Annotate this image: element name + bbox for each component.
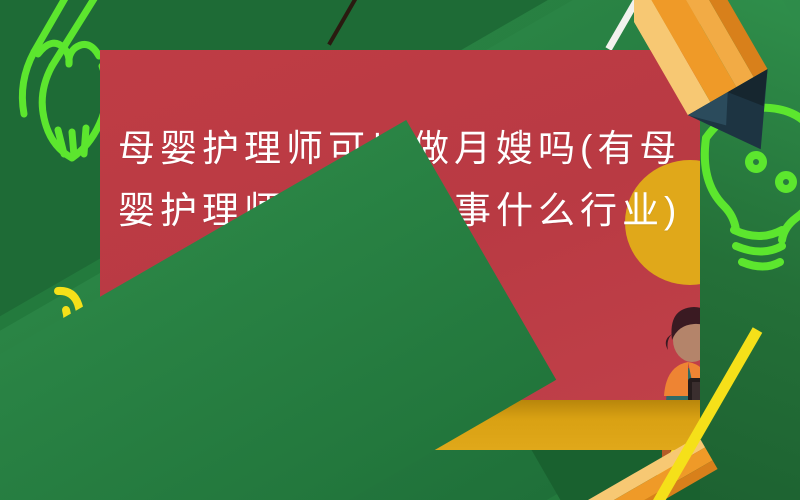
orange-pencil-bottom-icon — [490, 440, 750, 500]
poster-canvas: 母婴护理师可以做月嫂吗(有母婴护理师证可以从事什么行业) — [0, 0, 800, 500]
orange-pencil-icon-front — [634, 0, 800, 166]
